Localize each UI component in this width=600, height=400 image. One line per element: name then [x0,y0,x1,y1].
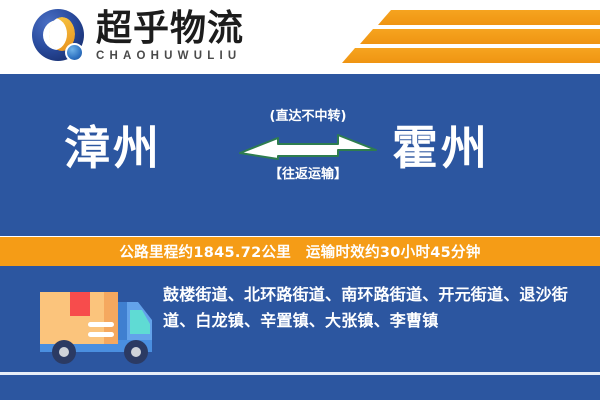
origin-city-label: 漳州 [64,120,162,176]
coverage-panel: 鼓楼街道、北环路街道、南环路街道、开元街道、退沙街道、白龙镇、辛置镇、大张镇、李… [0,266,600,400]
route-middle-block: (直达不中转) 【往返运输】 [238,108,378,184]
distance-duration-text: 公路里程约1845.72公里 运输时效约30小时45分钟 [119,241,480,262]
direct-service-note: (直达不中转) [238,108,378,126]
footer-divider [0,372,600,375]
header-stripes-decoration [300,6,600,68]
distance-duration-bar: 公路里程约1845.72公里 运输时效约30小时45分钟 [0,237,600,266]
coverage-areas-text: 鼓楼街道、北环路街道、南环路街道、开元街道、退沙街道、白龙镇、辛置镇、大张镇、李… [163,282,581,334]
stripe-2 [360,29,600,44]
brand-name-en: CHAOHUWULIU [96,50,271,63]
circle-crescent-logo-icon [32,9,92,63]
round-trip-note: 【往返运输】 [238,166,378,184]
bidirectional-arrow-icon [238,132,378,162]
brand-block: 超乎物流 CHAOHUWULIU [96,10,271,63]
stripe-3 [342,48,600,63]
brand-name-cn: 超乎物流 [96,10,271,48]
stripe-1 [378,10,600,25]
logo-accent-dot [65,43,84,62]
destination-city-label: 霍州 [392,120,490,176]
logistics-route-poster: 超乎物流 CHAOHUWULIU 漳州 (直达不中转) 【往返运输】 霍州 公路… [0,0,600,400]
delivery-truck-icon [26,274,156,372]
route-panel: 漳州 (直达不中转) 【往返运输】 霍州 [0,74,600,236]
header-bar: 超乎物流 CHAOHUWULIU [0,0,600,72]
